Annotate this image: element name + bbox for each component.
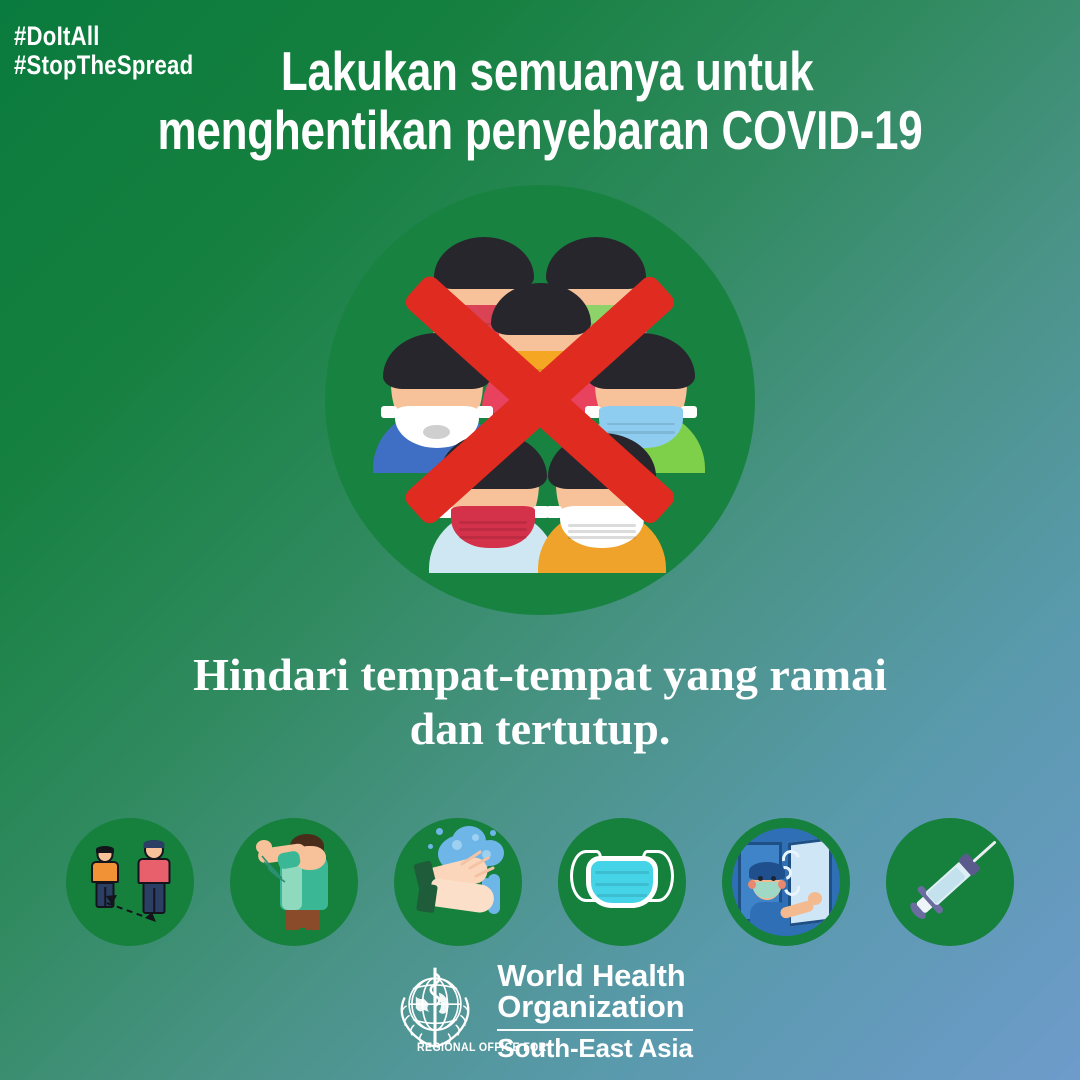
window-scene <box>732 828 840 936</box>
prevention-icons-row <box>0 818 1080 946</box>
title-line-1: Lakukan semuanya untuk <box>108 42 972 101</box>
who-line-2: Organization <box>497 991 692 1024</box>
open-window-icon <box>722 818 850 946</box>
mask-body <box>586 856 658 908</box>
hero-illustration <box>325 185 755 615</box>
wear-mask-icon <box>558 818 686 946</box>
title-line-2: menghentikan penyebaran COVID-19 <box>108 101 972 160</box>
message-line-1: Hindari tempat-tempat yang ramai <box>0 648 1080 702</box>
finger-lines <box>394 818 522 946</box>
physical-distancing-icon <box>66 818 194 946</box>
cough-droplets <box>230 818 358 946</box>
who-divider <box>497 1029 692 1031</box>
arrow-heads <box>66 818 194 946</box>
prevention-message: Hindari tempat-tempat yang ramai dan ter… <box>0 648 1080 757</box>
page-title: Lakukan semuanya untuk menghentikan peny… <box>0 42 1080 161</box>
who-line-1: World Health <box>497 960 692 991</box>
prohibition-cross-icon <box>325 185 755 615</box>
cough-into-elbow-icon <box>230 818 358 946</box>
wash-hands-icon <box>394 818 522 946</box>
syringe <box>910 844 990 920</box>
message-line-2: dan tertutup. <box>0 702 1080 756</box>
vaccine-syringe-icon <box>886 818 1014 946</box>
who-regional-prefix: REGIONAL OFFICE FOR <box>417 1042 547 1054</box>
